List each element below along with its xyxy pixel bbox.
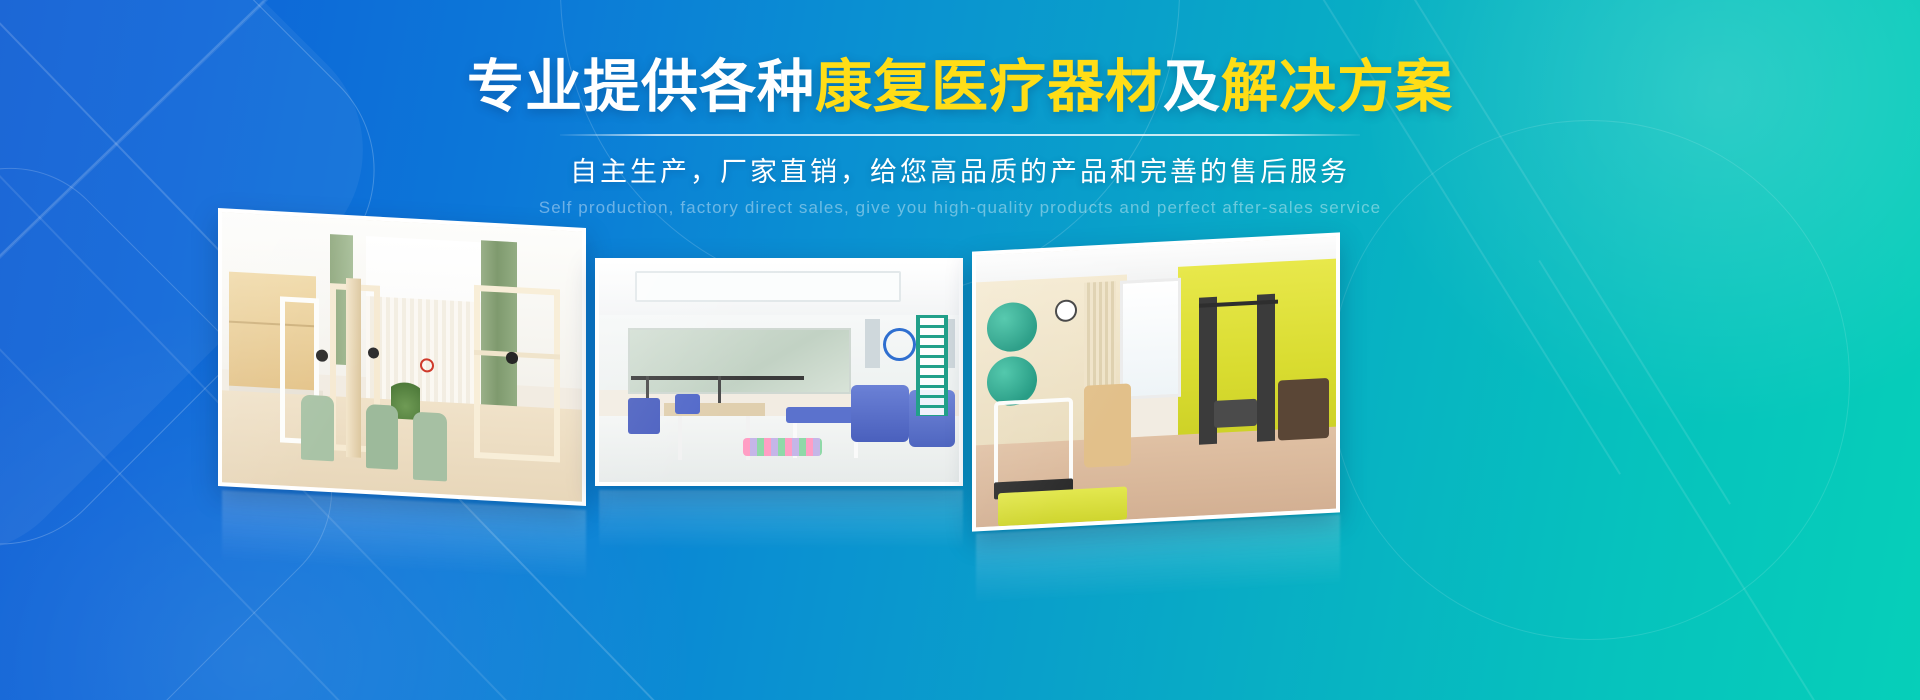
headline-segment-2: 康复医疗器材 bbox=[815, 55, 1163, 119]
headline-divider bbox=[560, 134, 1360, 136]
photo-rehab-therapy-hall[interactable] bbox=[595, 258, 963, 486]
photo-scene bbox=[599, 262, 959, 482]
headline-segment-4: 解决方案 bbox=[1221, 55, 1453, 119]
banner-subtitle-cn: 自主生产，厂家直销，给您高品质的产品和完善的售后服务 bbox=[0, 150, 1920, 189]
banner-headline: 专业提供各种康复医疗器材及解决方案 bbox=[0, 58, 1920, 118]
headline-segment-3: 及 bbox=[1163, 55, 1221, 119]
photo-scene bbox=[222, 212, 582, 501]
banner-subtitle-en: Self production, factory direct sales, g… bbox=[0, 198, 1920, 218]
photo-scene bbox=[976, 237, 1336, 528]
promo-banner: 专业提供各种康复医疗器材及解决方案 自主生产，厂家直销，给您高品质的产品和完善的… bbox=[0, 0, 1920, 700]
photo-rehab-training-room[interactable] bbox=[218, 208, 586, 506]
banner-text-block: 专业提供各种康复医疗器材及解决方案 自主生产，厂家直销，给您高品质的产品和完善的… bbox=[0, 58, 1920, 218]
photo-rehab-exercise-room[interactable] bbox=[972, 232, 1340, 531]
headline-segment-1: 专业提供各种 bbox=[467, 55, 815, 119]
